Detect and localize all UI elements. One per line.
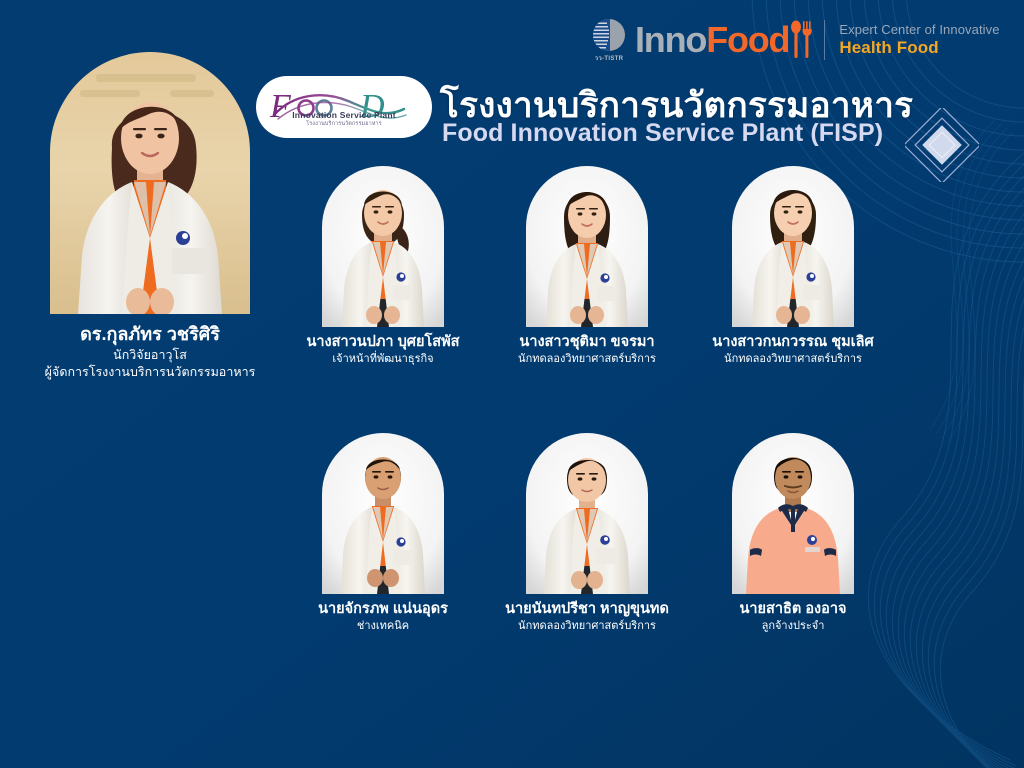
person-name: นางสาวนปภา บุศยโสพัส [268, 333, 498, 351]
person-name: นางสาวกนกวรรณ ชุมเลิศ [678, 333, 908, 351]
page-title-english: Food Innovation Service Plant (FISP) [442, 119, 883, 148]
tagline-line-1: Expert Center of Innovative [839, 23, 999, 38]
person-role: นักทดลองวิทยาศาสตร์บริการ [678, 352, 908, 366]
person-role-line-1: นักวิจัยอาวุโส [0, 347, 300, 363]
person-role-line-2: ผู้จัดการโรงงานบริการนวัตกรรมอาหาร [0, 364, 300, 380]
tagline-line-2: Health Food [839, 38, 999, 58]
innofood-logo: วว-TISTR InnoFood Expert C [588, 14, 1000, 66]
slide-canvas: วว-TISTR InnoFood Expert C [0, 0, 1024, 768]
avatar-5 [526, 432, 648, 594]
person-card-lead[interactable]: ดร.กุลภัทร วชริศิริ นักวิจัยอาวุโส ผู้จั… [0, 52, 300, 380]
person-name: นายนันทปรีชา หาญขุนทด [472, 600, 702, 618]
avatar-1 [322, 165, 444, 327]
person-name: นายจักรภพ แน่นอุดร [268, 600, 498, 618]
innofood-word-food: Food [706, 19, 789, 60]
avatar-4 [322, 432, 444, 594]
header-divider [824, 20, 825, 60]
tistr-circle-icon [592, 18, 626, 52]
avatar-2 [526, 165, 648, 327]
innofood-word-inno: Inno [635, 19, 706, 60]
person-card-5[interactable]: นายนันทปรีชา หาญขุนทด นักทดลองวิทยาศาสตร… [472, 432, 702, 633]
person-name: นายสาธิต องอาจ [678, 600, 908, 618]
person-card-6[interactable]: นายสาธิต องอาจ ลูกจ้างประจำ [678, 432, 908, 633]
person-card-3[interactable]: นางสาวกนกวรรณ ชุมเลิศ นักทดลองวิทยาศาสตร… [678, 165, 908, 366]
person-card-2[interactable]: นางสาวชุติมา ขจรมา นักทดลองวิทยาศาสตร์บร… [472, 165, 702, 366]
tistr-abbreviation: วว-TISTR [595, 53, 623, 63]
avatar-3 [732, 165, 854, 327]
person-name: นางสาวชุติมา ขจรมา [472, 333, 702, 351]
spoon-fork-icon [790, 20, 812, 60]
avatar-6 [732, 432, 854, 594]
person-role: เจ้าหน้าที่พัฒนาธุรกิจ [268, 352, 498, 366]
header-tagline: Expert Center of Innovative Health Food [839, 23, 999, 57]
person-role: ช่างเทคนิค [268, 619, 498, 633]
avatar-lead [50, 52, 250, 314]
person-role: นักทดลองวิทยาศาสตร์บริการ [472, 619, 702, 633]
person-role: นักทดลองวิทยาศาสตร์บริการ [472, 352, 702, 366]
person-name: ดร.กุลภัทร วชริศิริ [0, 323, 300, 346]
innofood-wordmark: InnoFood [635, 22, 789, 58]
person-card-4[interactable]: นายจักรภพ แน่นอุดร ช่างเทคนิค [268, 432, 498, 633]
person-role: ลูกจ้างประจำ [678, 619, 908, 633]
diamond-ornament-icon [905, 108, 979, 182]
person-card-1[interactable]: นางสาวนปภา บุศยโสพัส เจ้าหน้าที่พัฒนาธุร… [268, 165, 498, 366]
tistr-logo-mark: วว-TISTR [588, 18, 630, 62]
